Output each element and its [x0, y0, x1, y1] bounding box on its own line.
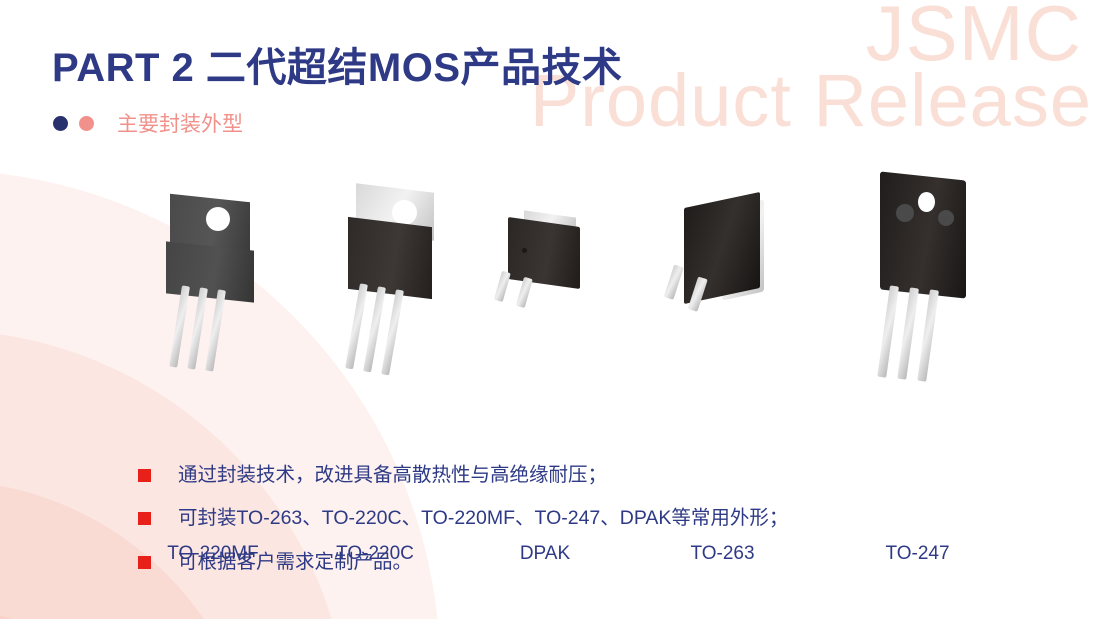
bullet-text-1: 通过封装技术，改进具备高散热性与高绝缘耐压；: [178, 462, 607, 488]
bullet-text-2: 可封装TO-263、TO-220C、TO-220MF、TO-247、DPAK等常…: [178, 505, 788, 531]
page-title: PART 2 二代超结MOS产品技术: [52, 35, 623, 93]
dpak-lead-1: [494, 271, 511, 302]
to-247-dimple-left: [896, 204, 914, 222]
package-item-dpak: [498, 210, 598, 350]
dpak-illustration: [498, 210, 598, 350]
navy-dot-icon: [53, 116, 68, 131]
bullet-square-icon: [138, 556, 151, 569]
bullet-square-icon: [138, 512, 151, 525]
to-263-lead-1: [664, 264, 684, 299]
bullet-item-1: 通过封装技术，改进具备高散热性与高绝缘耐压；: [138, 462, 998, 488]
package-item-to-247: [862, 168, 992, 383]
to-220mf-lead-2: [187, 287, 208, 369]
package-item-to-220c: [330, 178, 460, 378]
to-220c-lead-3: [381, 289, 404, 375]
to-220mf-illustration: [148, 180, 278, 380]
to-220mf-lead-1: [169, 285, 190, 367]
bullet-item-3: 可根据客户需求定制产品。: [138, 549, 998, 575]
to-247-dimple-right: [938, 210, 954, 226]
to-220mf-mounting-hole: [206, 207, 230, 231]
package-item-to-263: [668, 186, 788, 356]
bullet-item-2: 可封装TO-263、TO-220C、TO-220MF、TO-247、DPAK等常…: [138, 505, 998, 531]
subtitle-row: 主要封装外型: [53, 108, 243, 138]
to-220mf-lead-3: [205, 289, 226, 371]
dpak-lead-2: [516, 277, 533, 308]
to-247-illustration: [862, 168, 992, 383]
to-247-mounting-hole: [918, 192, 935, 212]
package-item-to-220mf: [148, 180, 278, 380]
to-247-lead-2: [897, 287, 919, 379]
bullet-text-3: 可根据客户需求定制产品。: [178, 549, 412, 575]
to-220c-illustration: [330, 178, 460, 378]
to-247-lead-1: [877, 285, 899, 377]
bullet-list: 通过封装技术，改进具备高散热性与高绝缘耐压； 可封装TO-263、TO-220C…: [138, 462, 998, 592]
to-247-body: [880, 171, 966, 298]
to-263-illustration: [668, 186, 788, 356]
subtitle-text: 主要封装外型: [117, 108, 243, 138]
to-220c-mounting-hole: [392, 200, 417, 225]
slide-root: JSMC Product Release PART 2 二代超结MOS产品技术 …: [0, 0, 1100, 619]
arc-ring-4: [0, 610, 180, 619]
to-247-lead-3: [917, 289, 939, 381]
bullet-square-icon: [138, 469, 151, 482]
salmon-dot-icon: [79, 116, 94, 131]
dpak-body: [508, 217, 580, 289]
to-220mf-lower-body: [166, 241, 254, 302]
package-gallery: TO-220MF TO-220C: [0, 160, 1100, 415]
dpak-pin1-dimple: [522, 248, 527, 253]
